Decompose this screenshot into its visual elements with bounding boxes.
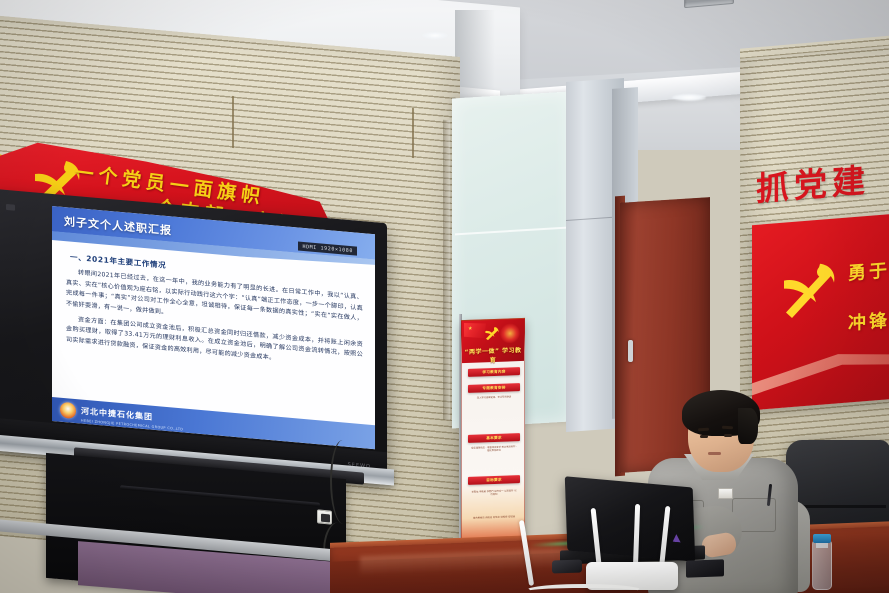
rollup-section-text: 坚定理想信念 · 增强政治意识 树立党员标杆 · 强化责任担当 [471,445,517,453]
rollup-section-band: 专题教育安排 [468,383,520,393]
hammer-sickle-icon [776,256,840,323]
person-eye [700,435,708,438]
interactive-flat-panel-display[interactable]: 刘子文个人述职汇报 一、2021年主要工作情况 转眼间2021年已经过去，在这一… [0,189,387,479]
rollup-section-band: 基本要求 [468,433,520,443]
company-logo-icon [60,402,76,419]
laptop[interactable] [565,476,696,562]
display-screen[interactable]: 刘子文个人述职汇报 一、2021年主要工作情况 转眼间2021年已经过去，在这一… [52,206,375,449]
name-badge [718,488,733,499]
hammer-sickle-icon [484,326,500,342]
party-building-banner: 勇于 冲锋 [752,211,889,410]
laptop-logo-icon [672,534,680,543]
two-studies-one-action-rollup: ★ “两学一做” 学习教育 学习教育内容 专题教育安排 深入学习党章党规、学习系… [461,318,525,552]
ir-sensor-icon [6,204,15,211]
person-mouth [708,452,721,455]
flag-star-icon: ★ [468,327,472,332]
door-handle[interactable] [628,340,633,362]
rollup-section-text: 深入学习党章党规、学习系列讲话 [471,395,517,400]
rollup-ring-decoration [500,323,520,344]
banner-slogan-line2: 冲锋 [848,306,889,335]
person-hair-side [738,408,758,444]
ceiling-downlight-icon [672,94,706,101]
wall-socket[interactable] [317,509,332,524]
person-eye [724,434,732,437]
ceiling-downlight-icon [422,32,448,39]
mobile-phone[interactable] [552,559,582,573]
china-flag-icon: ★ [464,322,486,339]
bottle-cap[interactable] [813,534,831,543]
slide-body: 一、2021年主要工作情况 转眼间2021年已经过去，在这一年中，我的业务能力有… [52,240,375,427]
rollup-section-text: 学而信 学而用 学而行 知行合一 以知促行 以行促知 [471,489,517,497]
power-cable-white [524,584,644,593]
rollup-header: ★ “两学一做” 学习教育 [462,319,524,363]
person-eyebrow [722,426,733,429]
rollup-section-band: 目标要求 [468,475,520,485]
rollup-section-band: 学习教育内容 [468,367,520,377]
wall-panel-joint [412,108,414,158]
rollup-section-text: 做合格党员 讲政治 有信念 讲规矩 有纪律 [471,515,517,520]
desk-device[interactable] [686,559,724,577]
screenshot-scene: 勇于 冲锋 抓党建 一个党员一面旗帜 一个支部一座堡垒 刘子文个人述职汇 [0,0,889,593]
banner-title-zhuadangjian: 抓党建 [756,153,870,210]
banner-slogan-line1: 勇于 [848,256,889,285]
rollup-title: “两学一做” 学习教育 [462,345,524,365]
wall-seam [443,120,450,421]
power-cable [330,439,356,525]
